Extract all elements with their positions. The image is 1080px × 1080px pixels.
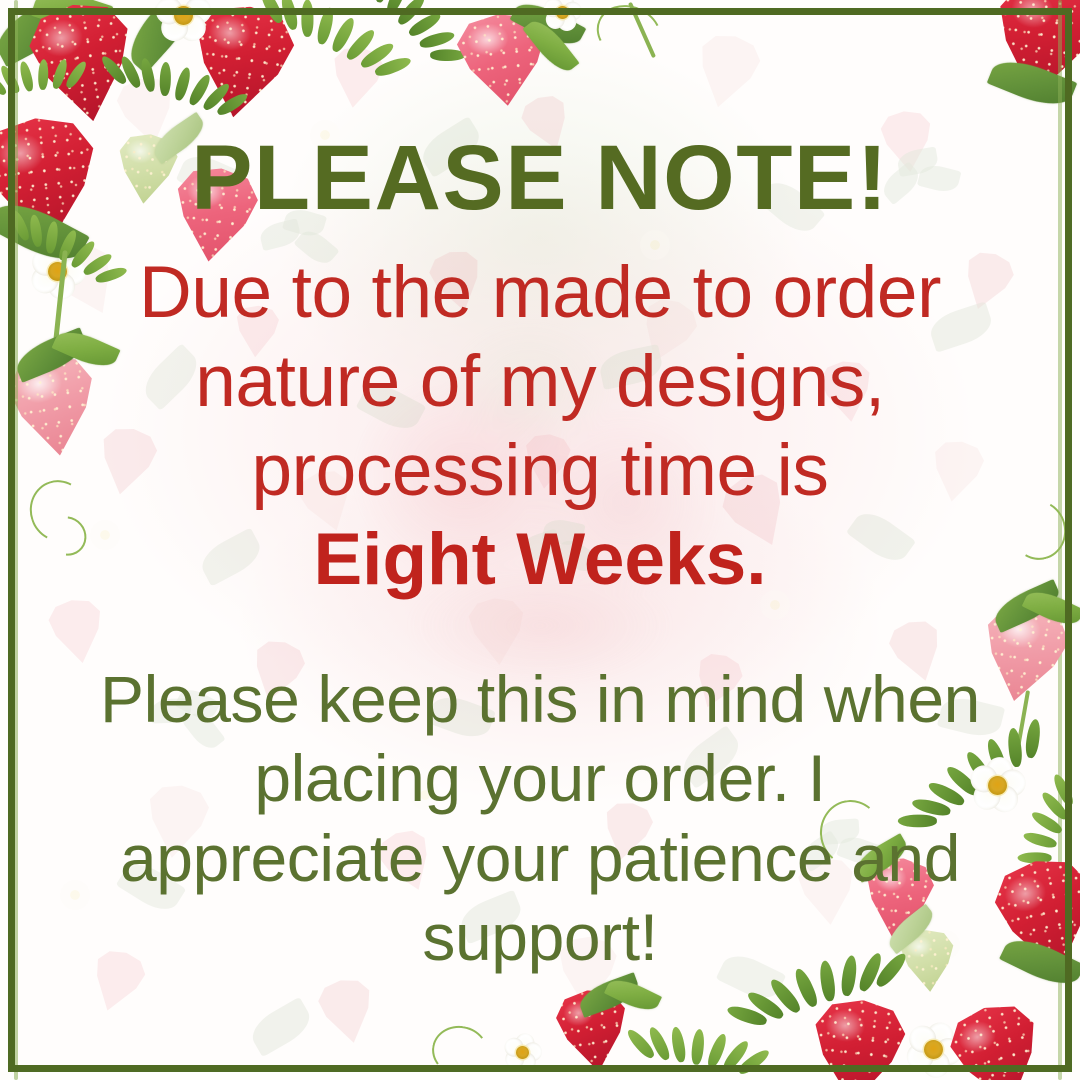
notice-emphasis-suffix: .: [746, 519, 766, 600]
closing-line-1: Please keep this in mind when: [42, 660, 1038, 739]
processing-time-notice: Due to the made to order nature of my de…: [0, 248, 1080, 604]
processing-time-value: Eight Weeks: [313, 519, 746, 600]
closing-line-4: support!: [42, 898, 1038, 977]
notice-line-1: Due to the made to order: [28, 248, 1052, 337]
notice-line-2: nature of my designs,: [28, 337, 1052, 426]
closing-line-3: appreciate your patience and: [42, 819, 1038, 898]
poster-text-content: PLEASE NOTE! Due to the made to order na…: [0, 0, 1080, 1080]
page-title: PLEASE NOTE!: [0, 132, 1080, 224]
poster-canvas: PLEASE NOTE! Due to the made to order na…: [0, 0, 1080, 1080]
notice-emphasis-line: Eight Weeks.: [28, 515, 1052, 604]
closing-message: Please keep this in mind when placing yo…: [0, 660, 1080, 977]
notice-line-3: processing time is: [28, 426, 1052, 515]
closing-line-2: placing your order. I: [42, 739, 1038, 818]
